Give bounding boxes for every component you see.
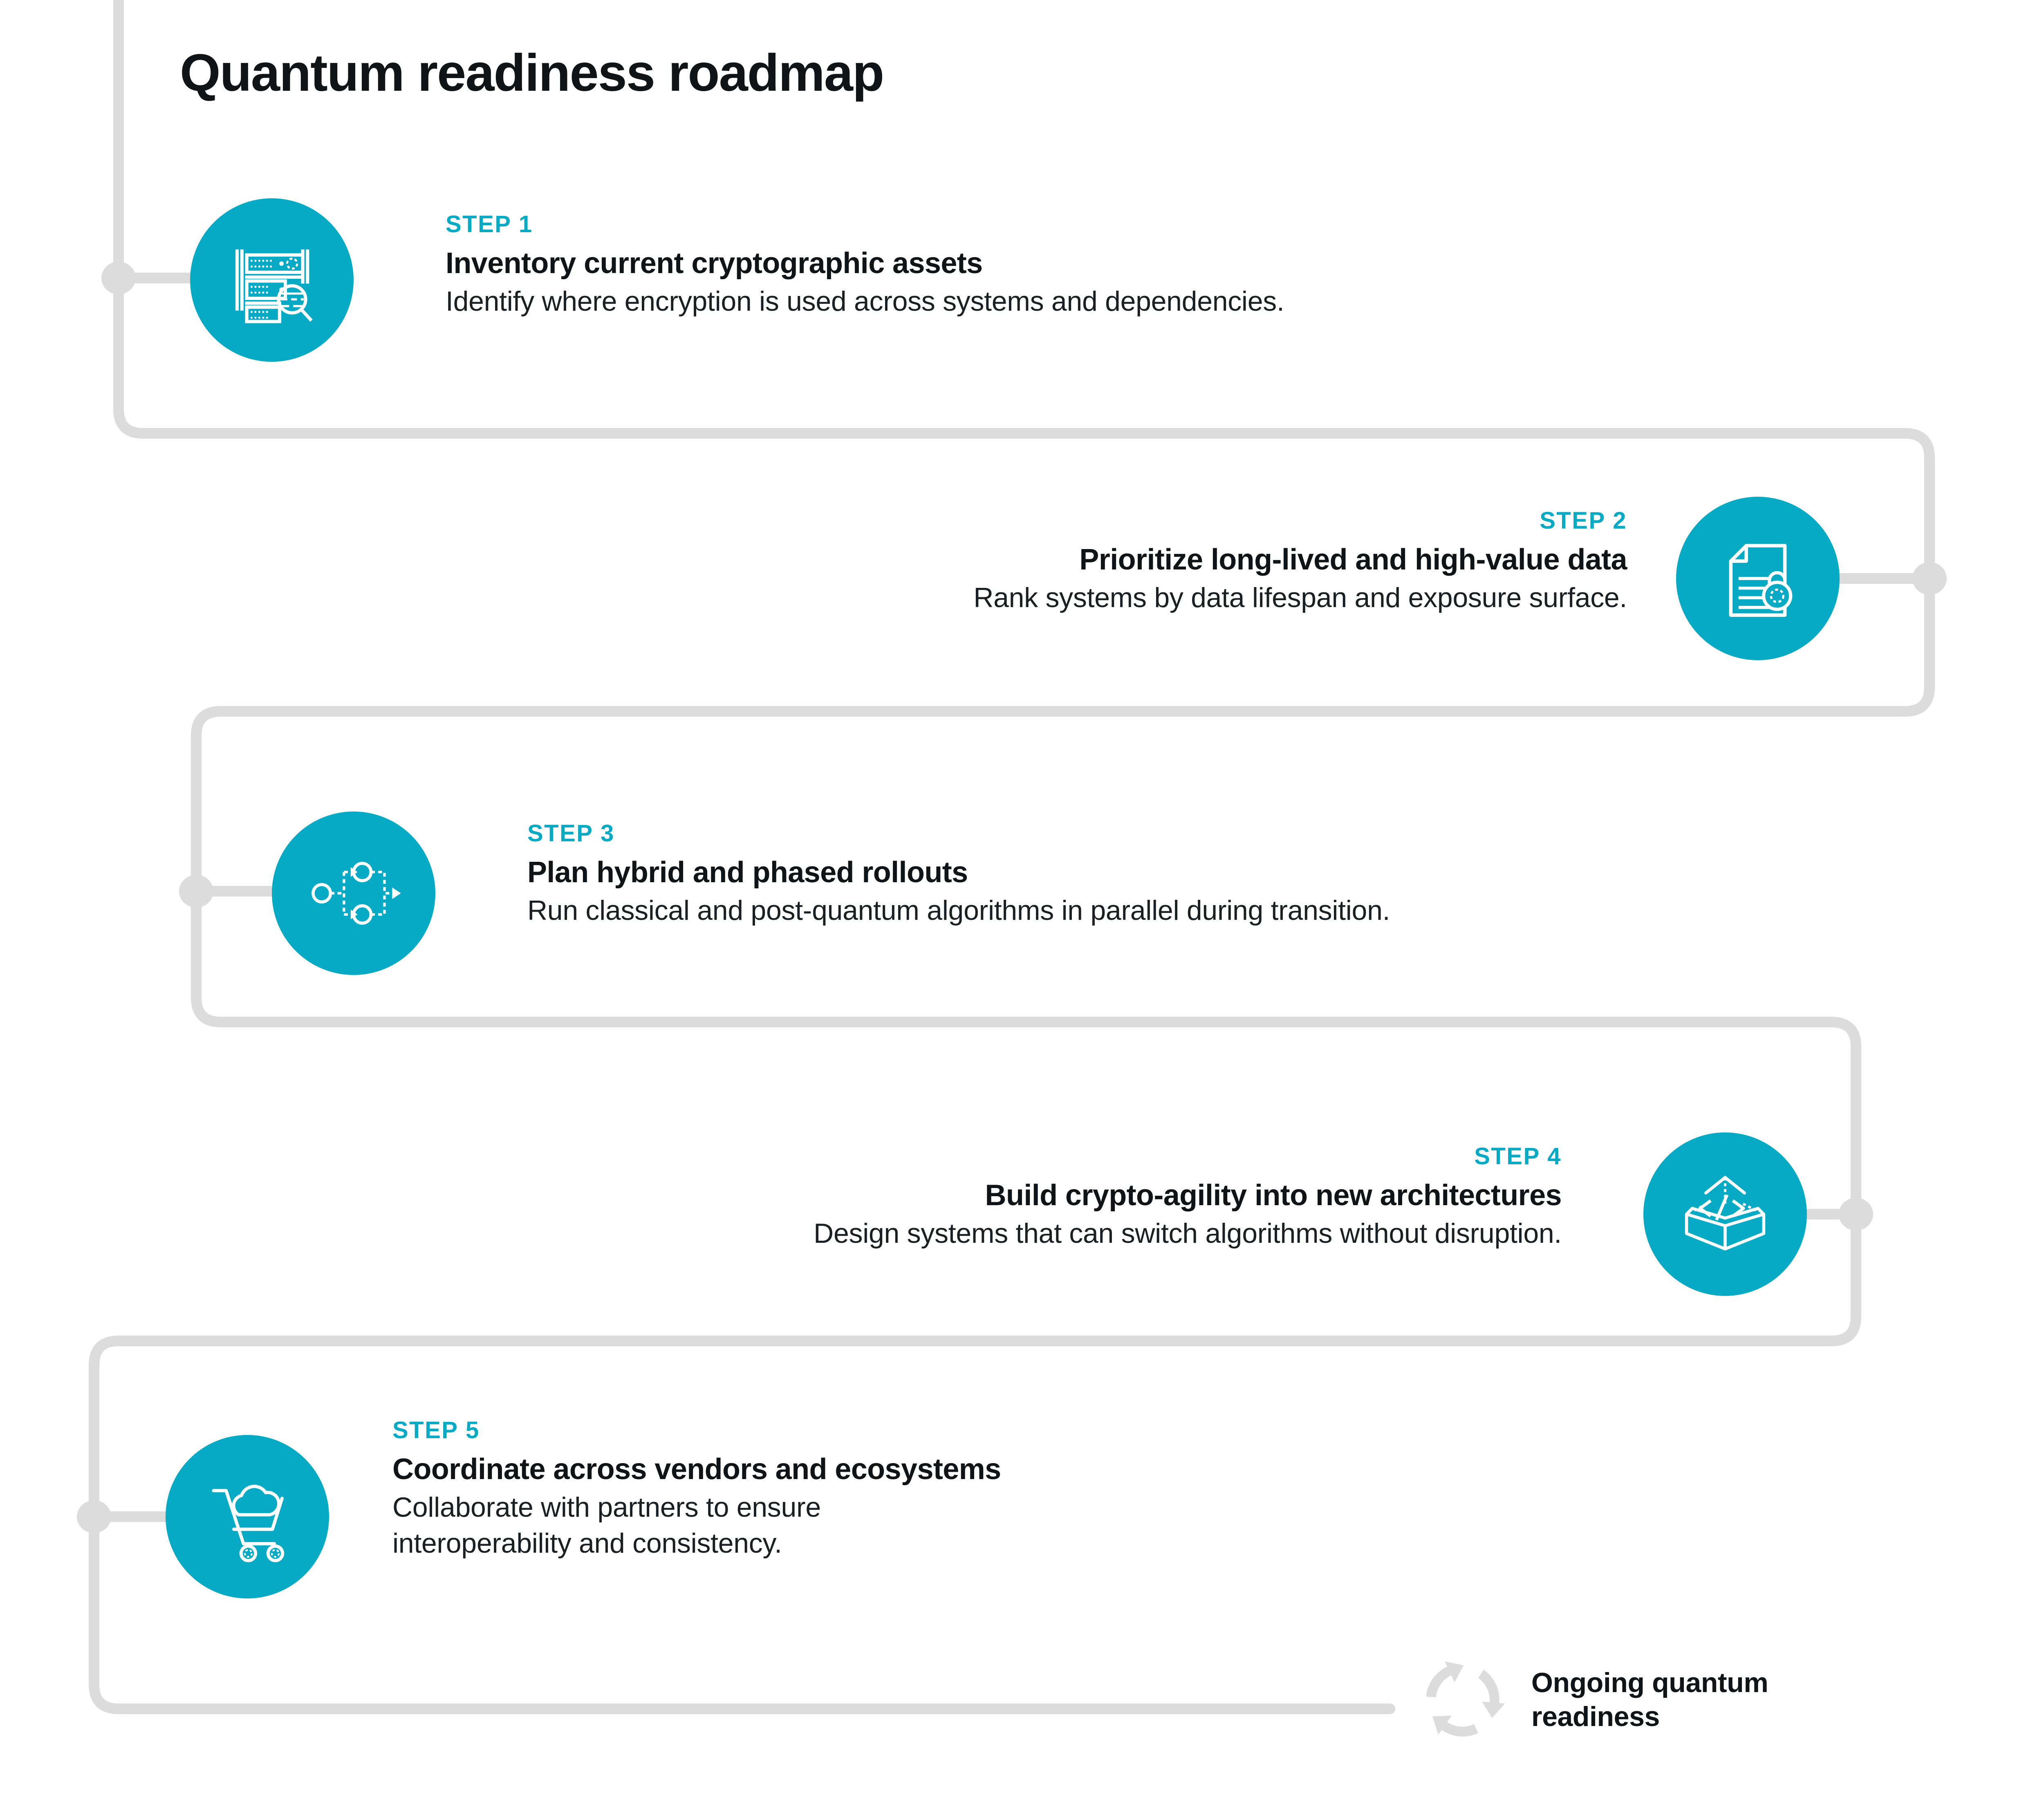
node-dot-step-2 xyxy=(1912,562,1947,595)
step-2-description: Rank systems by data lifespan and exposu… xyxy=(327,580,1627,616)
step-5-text-block: STEP 5 Coordinate across vendors and eco… xyxy=(392,1419,1701,1561)
node-dot-step-3 xyxy=(179,875,213,908)
document-lock-icon xyxy=(1710,530,1806,627)
ongoing-readiness-label: Ongoing quantum readiness xyxy=(1531,1666,1768,1734)
step-4-text-block: STEP 4 Build crypto-agility into new arc… xyxy=(286,1145,1562,1251)
recycle-cycle-icon xyxy=(1414,1652,1511,1748)
step-3-title: Plan hybrid and phased rollouts xyxy=(527,856,1917,889)
node-dot-step-1 xyxy=(101,262,136,294)
step-2-text-block: STEP 2 Prioritize long-lived and high-va… xyxy=(327,509,1627,616)
step-4-icon-bubble xyxy=(1643,1132,1807,1296)
step-1-title: Inventory current cryptographic assets xyxy=(446,247,1917,280)
step-3-text-block: STEP 3 Plan hybrid and phased rollouts R… xyxy=(527,822,1917,928)
cloud-shopping-cart-icon xyxy=(199,1468,296,1565)
step-2-icon-bubble xyxy=(1676,497,1840,660)
open-box-code-icon xyxy=(1677,1166,1773,1262)
step-3-description: Run classical and post-quantum algorithm… xyxy=(527,892,1917,928)
step-4-title: Build crypto-agility into new architectu… xyxy=(286,1179,1562,1212)
ongoing-readiness-block: Ongoing quantum readiness xyxy=(1414,1652,1768,1748)
step-4-kicker: STEP 4 xyxy=(286,1145,1562,1168)
parallel-flow-nodes-icon xyxy=(305,845,402,941)
node-dot-step-5 xyxy=(77,1500,111,1533)
step-5-kicker: STEP 5 xyxy=(392,1419,1701,1442)
page-title: Quantum readiness roadmap xyxy=(180,43,883,103)
step-3-icon-bubble xyxy=(272,811,435,975)
step-1-description: Identify where encryption is used across… xyxy=(446,283,1917,319)
server-rack-magnifier-icon xyxy=(224,232,320,328)
step-1-icon-bubble xyxy=(190,198,354,362)
roadmap-infographic: Quantum readiness roadmap xyxy=(0,0,2044,1809)
step-3-kicker: STEP 3 xyxy=(527,822,1917,845)
step-1-kicker: STEP 1 xyxy=(446,213,1917,236)
step-5-description: Collaborate with partners to ensure inte… xyxy=(392,1489,1701,1562)
step-2-kicker: STEP 2 xyxy=(327,509,1627,533)
step-2-title: Prioritize long-lived and high-value dat… xyxy=(327,543,1627,576)
step-5-icon-bubble xyxy=(166,1435,329,1598)
step-5-title: Coordinate across vendors and ecosystems xyxy=(392,1453,1701,1486)
step-4-description: Design systems that can switch algorithm… xyxy=(286,1215,1562,1251)
node-dot-step-4 xyxy=(1839,1198,1873,1231)
step-1-text-block: STEP 1 Inventory current cryptographic a… xyxy=(446,213,1917,319)
